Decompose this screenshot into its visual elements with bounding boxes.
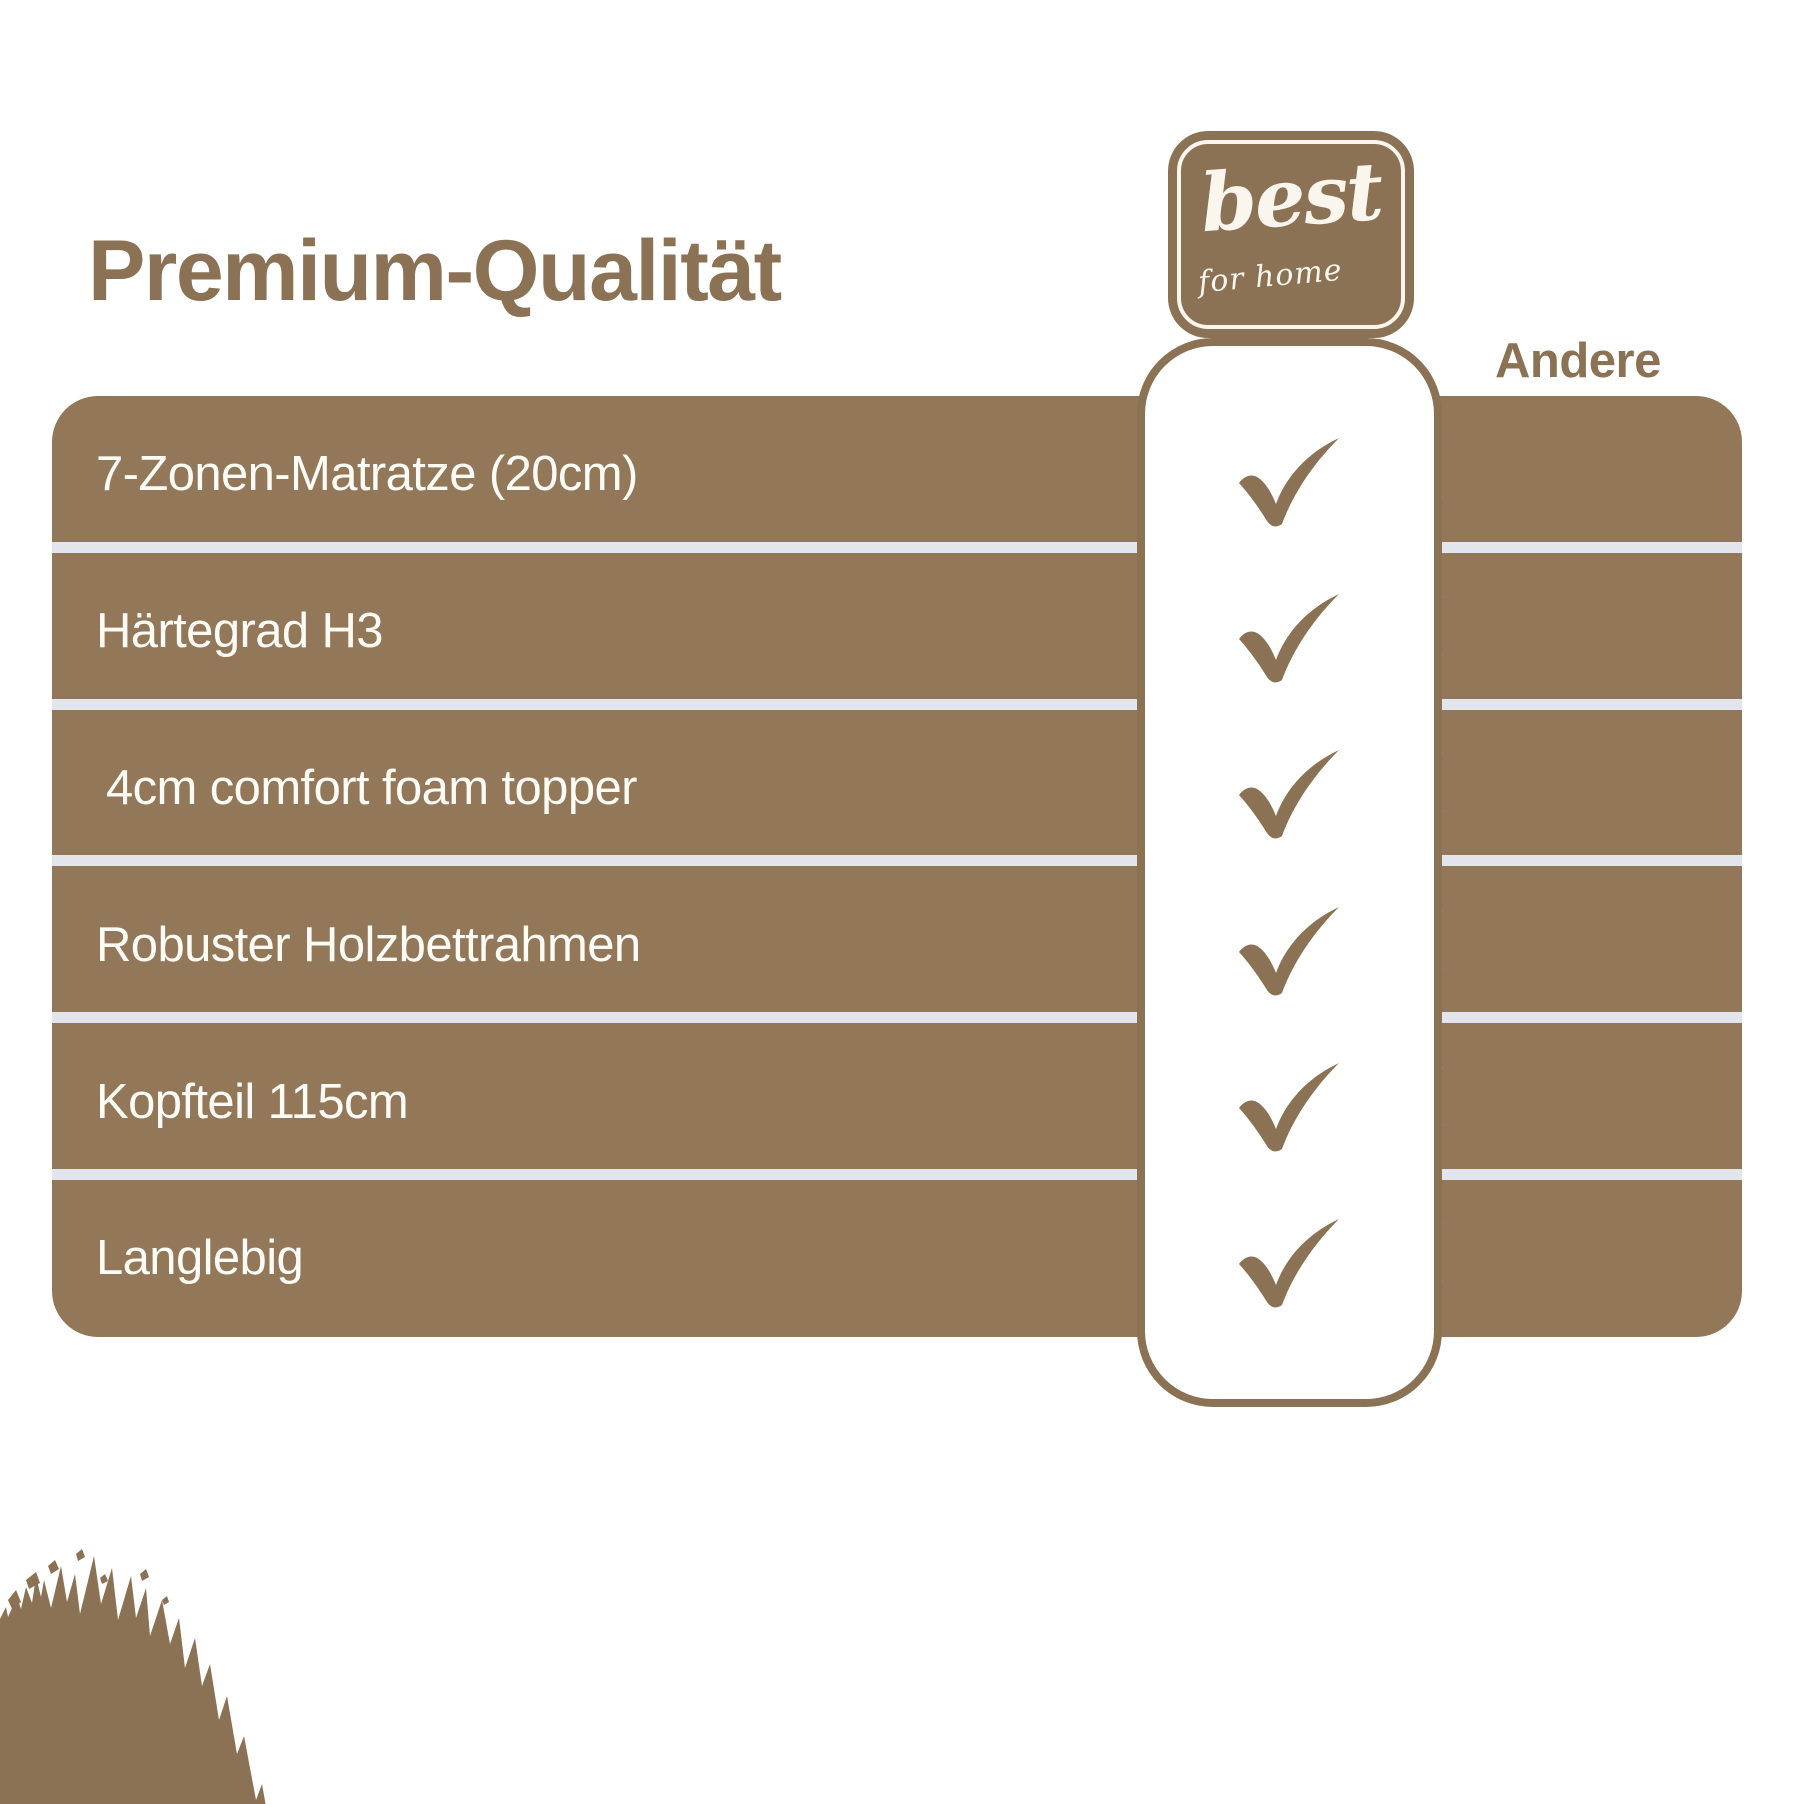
row-separator <box>52 542 1742 553</box>
check-icon <box>1231 903 1349 999</box>
check-icon <box>1231 434 1349 530</box>
infographic-canvas: Premium-Qualität best for home Andere 7-… <box>0 0 1800 1800</box>
feature-label: Kopfteil 115cm <box>52 1074 408 1130</box>
table-row: Kopfteil 115cm <box>52 1023 1742 1180</box>
row-separator <box>52 855 1742 866</box>
check-list <box>1145 404 1434 1341</box>
row-separator <box>52 699 1742 710</box>
paint-splatter-decoration <box>0 1504 350 1804</box>
comparison-table: 7-Zonen-Matratze (20cm) Härtegrad H3 4cm… <box>52 396 1742 1337</box>
check-icon <box>1231 1059 1349 1155</box>
check-icon <box>1231 1215 1349 1311</box>
row-separator <box>52 1169 1742 1180</box>
table-row: Langlebig <box>52 1180 1742 1337</box>
row-separator <box>52 1012 1742 1023</box>
highlight-column-card <box>1137 338 1442 1407</box>
table-row: 7-Zonen-Matratze (20cm) <box>52 396 1742 553</box>
page-title: Premium-Qualität <box>88 222 781 321</box>
check-icon <box>1231 746 1349 842</box>
feature-label: 7-Zonen-Matratze (20cm) <box>52 446 638 502</box>
check-icon <box>1231 590 1349 686</box>
table-row: Robuster Holzbettrahmen <box>52 866 1742 1023</box>
logo-brand-name: best <box>1166 149 1417 246</box>
table-row: 4cm comfort foam topper <box>52 710 1742 867</box>
feature-label: Härtegrad H3 <box>52 603 383 659</box>
feature-label: 4cm comfort foam topper <box>52 760 637 816</box>
feature-label: Langlebig <box>52 1230 303 1286</box>
column-header-others: Andere <box>1495 333 1661 389</box>
brand-logo: best for home <box>1168 131 1414 338</box>
feature-label: Robuster Holzbettrahmen <box>52 917 641 973</box>
table-row: Härtegrad H3 <box>52 553 1742 710</box>
